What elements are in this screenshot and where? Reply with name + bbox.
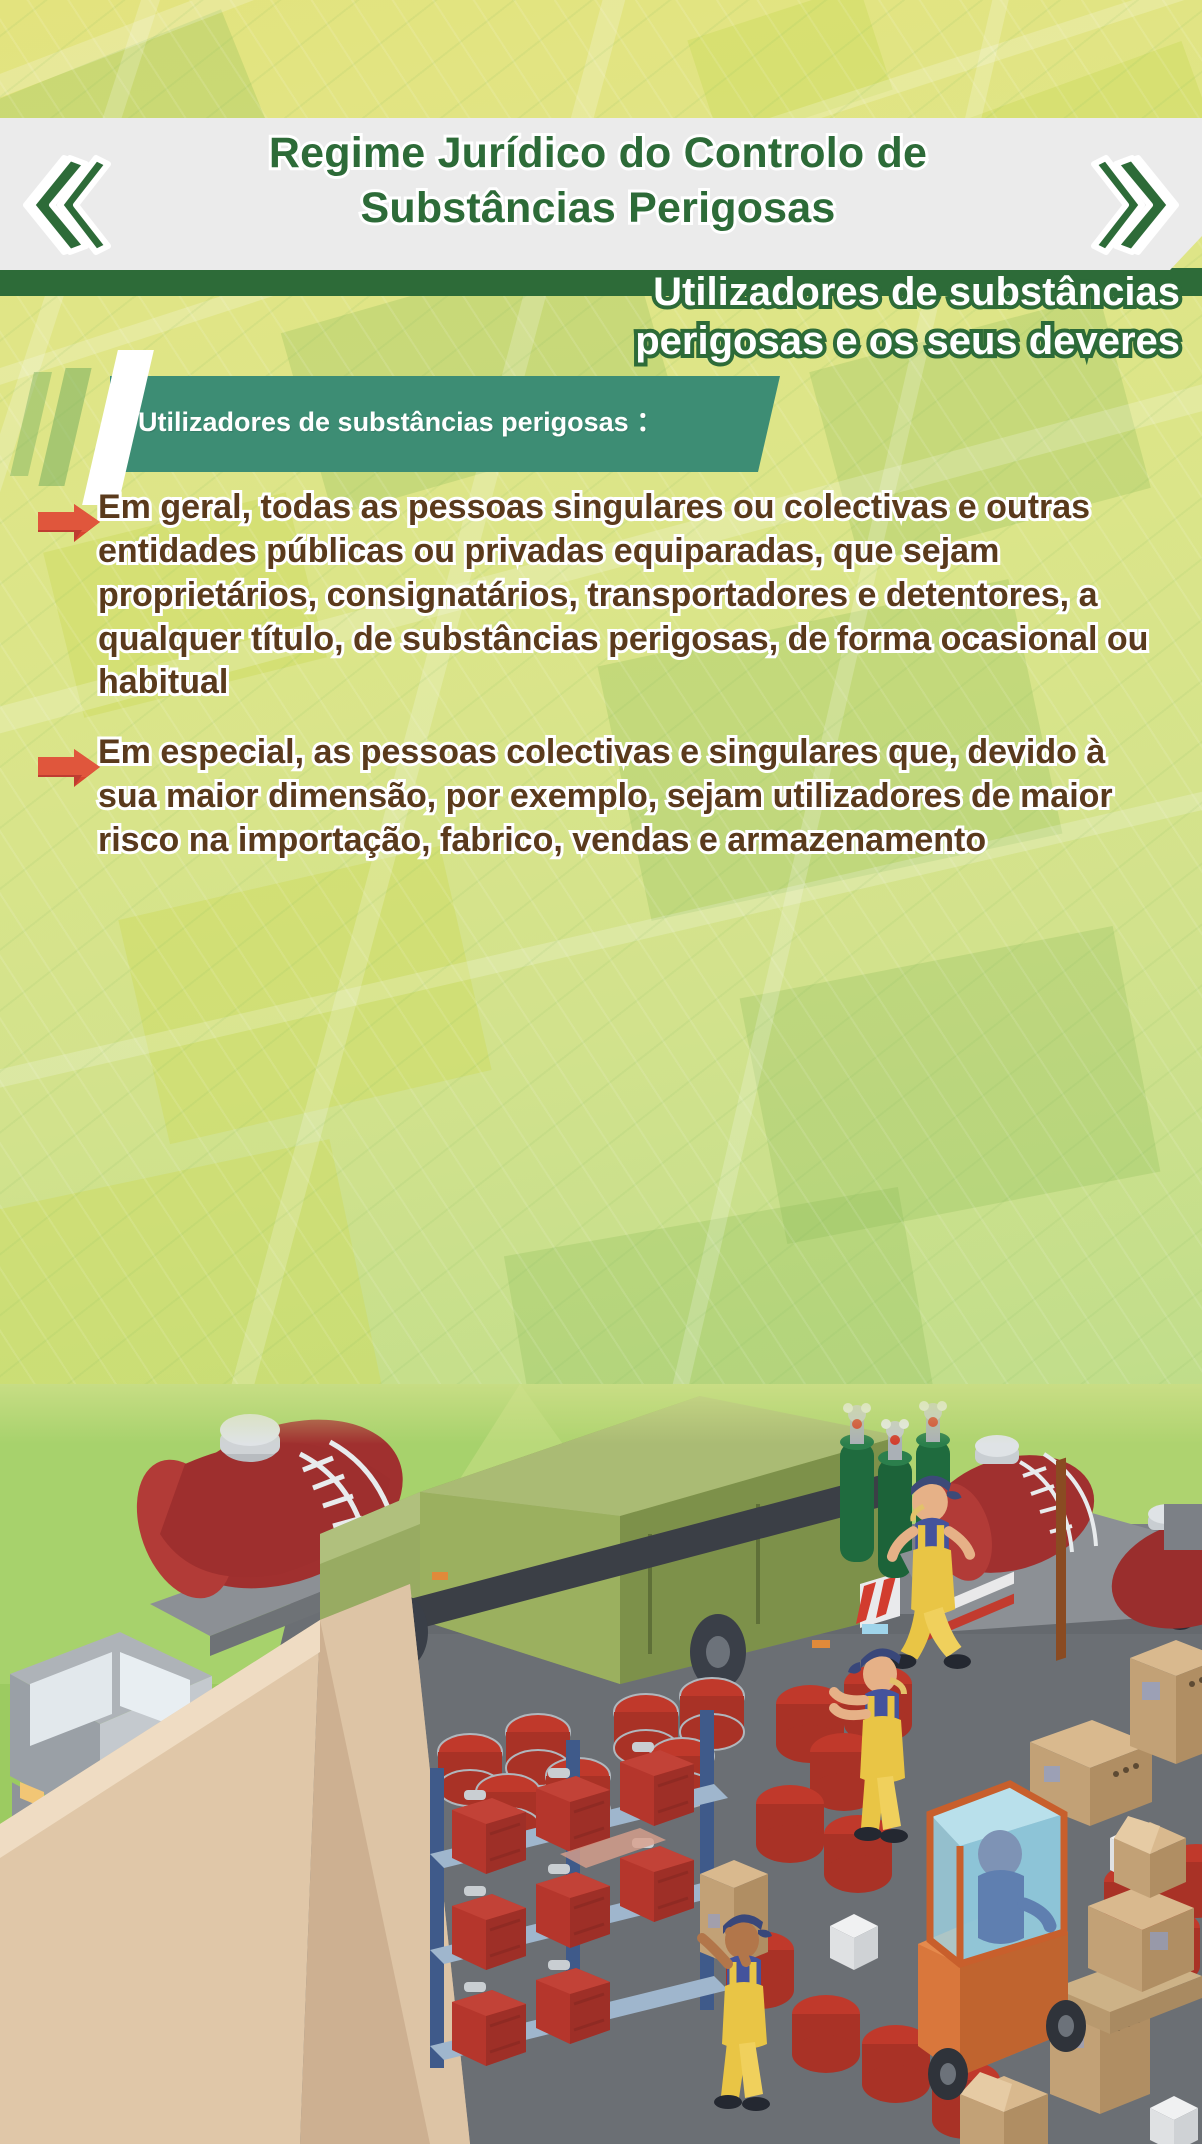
page-title: Regime Jurídico do Controlo de Substânci… xyxy=(118,126,1078,236)
bullet-item: Em especial, as pessoas colectivas e sin… xyxy=(0,731,1202,863)
bullet-text: Em geral, todas as pessoas singulares ou… xyxy=(98,486,1202,705)
infographic-poster: Regime Jurídico do Controlo de Substânci… xyxy=(0,0,1202,2144)
body-content: Em geral, todas as pessoas singulares ou… xyxy=(0,486,1202,889)
section-headline-line2: perigosas e os seus deveres xyxy=(280,317,1180,366)
double-chevron-left-icon xyxy=(6,150,116,260)
warehouse-illustration-svg xyxy=(0,1384,1202,2144)
section-headline-line1: Utilizadores de substâncias xyxy=(280,268,1180,317)
bullet-item: Em geral, todas as pessoas singulares ou… xyxy=(0,486,1202,705)
bullet-text: Em especial, as pessoas colectivas e sin… xyxy=(98,731,1202,863)
double-chevron-right-icon xyxy=(1086,150,1196,260)
right-arrow-icon xyxy=(36,502,102,548)
section-headline: Utilizadores de substâncias perigosas e … xyxy=(280,268,1180,366)
warehouse-illustration xyxy=(0,1384,1202,2144)
page-title-line1: Regime Jurídico do Controlo de xyxy=(118,126,1078,181)
right-arrow-icon xyxy=(36,747,102,793)
subsection-banner-label: Utilizadores de substâncias perigosas ： xyxy=(138,400,758,439)
page-title-line2: Substâncias Perigosas xyxy=(118,181,1078,236)
